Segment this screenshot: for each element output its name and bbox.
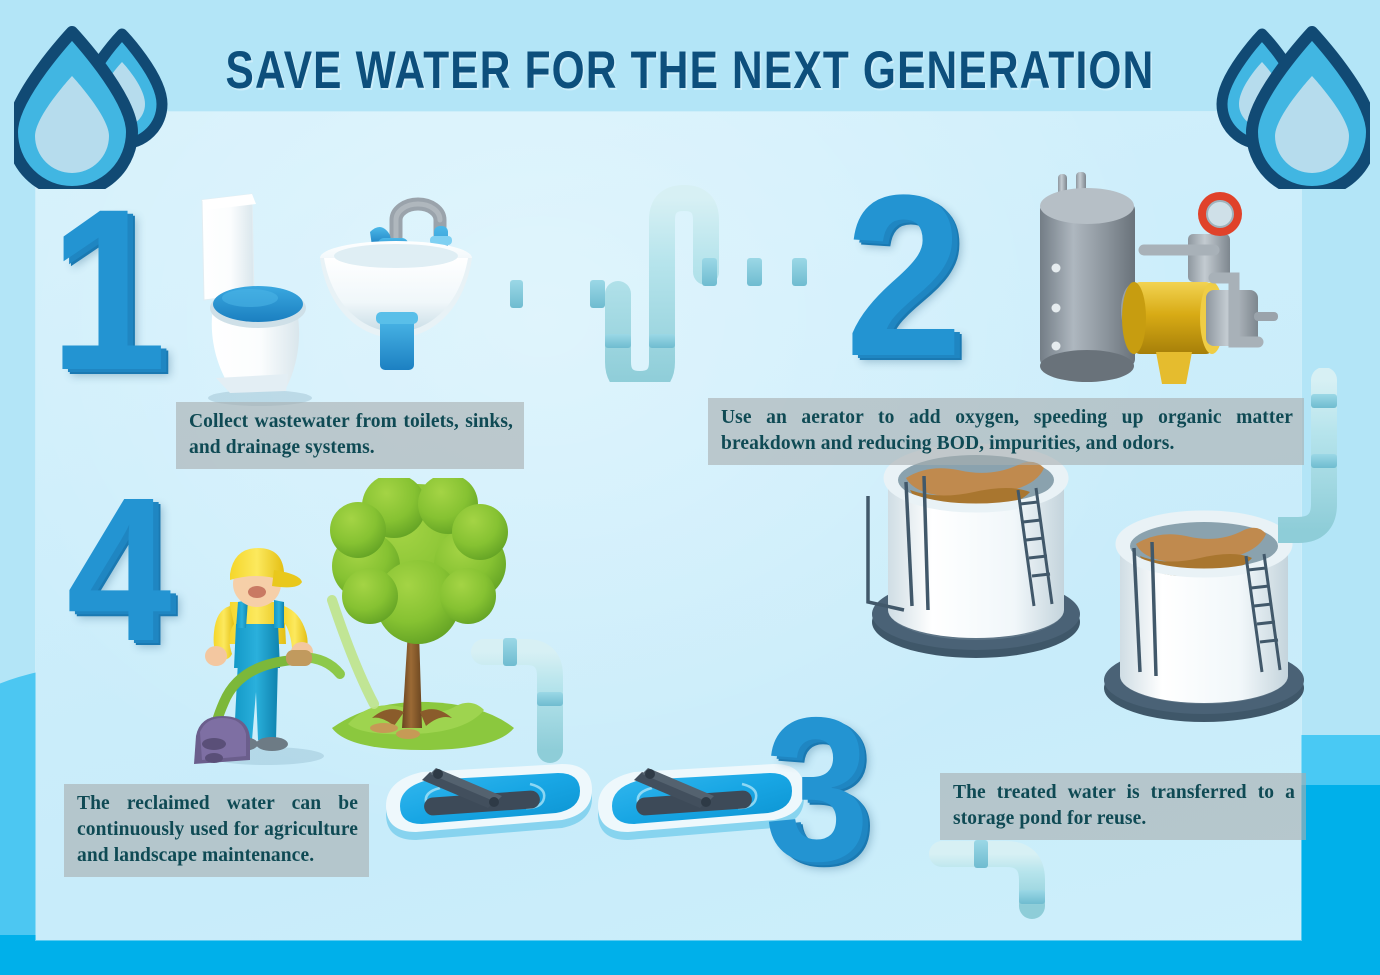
wave-decoration-bottom — [0, 935, 1380, 975]
sink-icon — [318, 186, 478, 386]
step-number-3: 3 — [765, 706, 870, 874]
aerator-tank-icon — [1028, 172, 1278, 397]
step-caption-2: Use an aerator to add oxygen, speeding u… — [708, 398, 1304, 465]
water-drops-icon — [1200, 14, 1370, 189]
infographic-poster: SAVE WATER FOR THE NEXT GENERATION — [0, 0, 1380, 975]
oxidation-ditch-icon — [366, 762, 596, 880]
storage-tank-icon — [866, 434, 1086, 664]
step-caption-4: The reclaimed water can be continuously … — [64, 784, 369, 877]
hose-icon — [188, 706, 258, 768]
drain-pipe-icon — [492, 182, 838, 382]
outlet-pipe-icon — [928, 828, 1084, 938]
step-caption-1: Collect wastewater from toilets, sinks, … — [176, 402, 524, 469]
toilet-icon — [188, 192, 338, 407]
step-number-4: 4 — [67, 486, 172, 654]
page-title: SAVE WATER FOR THE NEXT GENERATION — [138, 40, 1242, 101]
step-caption-3: The treated water is transferred to a st… — [940, 773, 1306, 840]
step-number-2: 2 — [845, 182, 963, 371]
step-number-1: 1 — [49, 196, 167, 385]
outlet-pipe-icon — [470, 630, 580, 770]
